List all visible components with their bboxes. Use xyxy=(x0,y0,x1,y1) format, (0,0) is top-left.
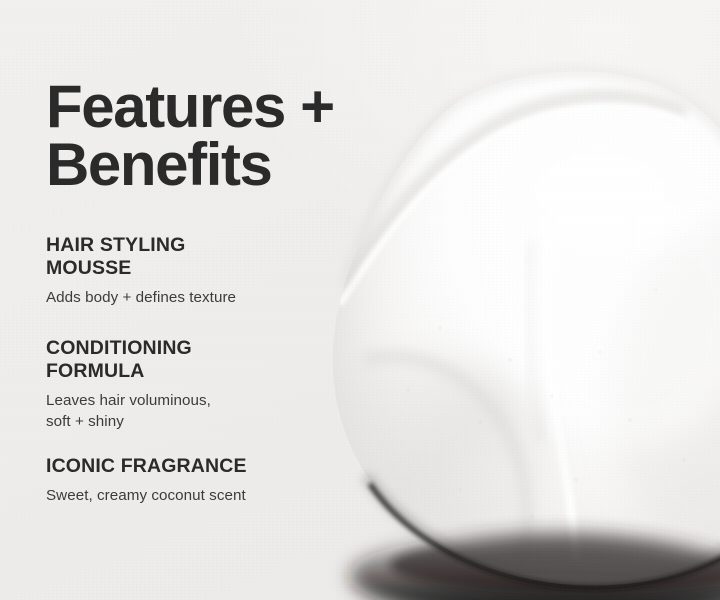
feature-title: HAIR STYLING MOUSSE xyxy=(46,234,346,280)
feature-description: Adds body + defines texture xyxy=(46,287,346,309)
feature-description: Leaves hair voluminous, soft + shiny xyxy=(46,390,346,433)
product-photo-mousse xyxy=(300,60,720,600)
promo-graphic: Features + Benefits HAIR STYLING MOUSSE … xyxy=(0,0,720,600)
copy-column: Features + Benefits HAIR STYLING MOUSSE … xyxy=(46,0,346,600)
feature-title: ICONIC FRAGRANCE xyxy=(46,455,346,478)
feature-description: Sweet, creamy coconut scent xyxy=(46,485,346,507)
feature-block-iconic-fragrance: ICONIC FRAGRANCE Sweet, creamy coconut s… xyxy=(46,455,346,506)
feature-block-conditioning-formula: CONDITIONING FORMULA Leaves hair volumin… xyxy=(46,337,346,433)
feature-block-hair-styling-mousse: HAIR STYLING MOUSSE Adds body + defines … xyxy=(46,234,346,308)
mousse-body xyxy=(300,60,720,600)
feature-title: CONDITIONING FORMULA xyxy=(46,337,346,383)
page-title: Features + Benefits xyxy=(46,78,334,194)
